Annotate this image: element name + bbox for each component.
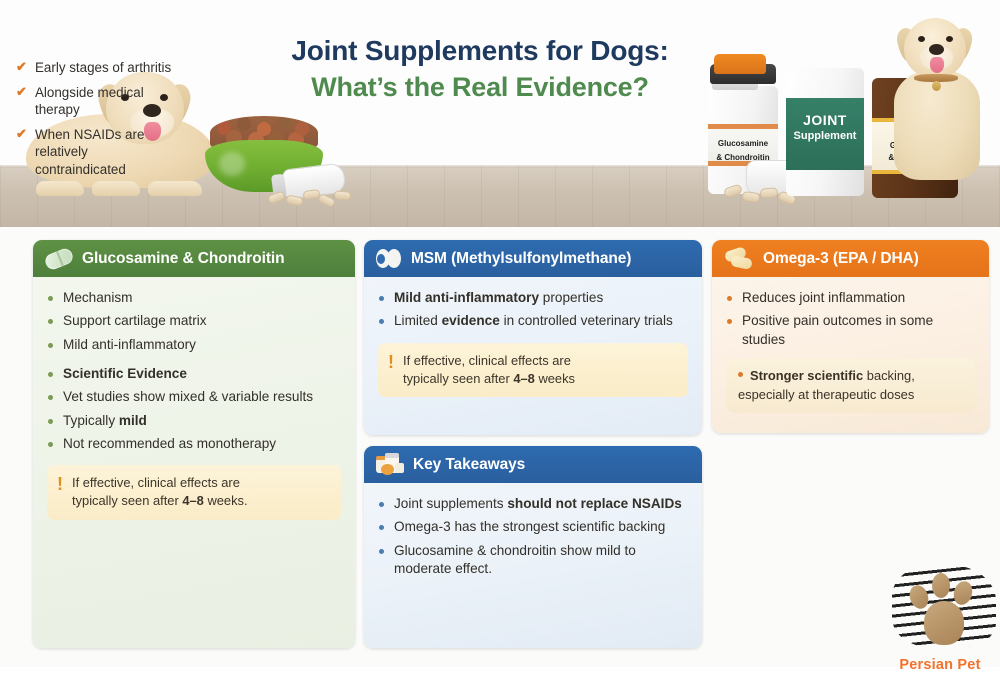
omega-3-bullet-list: Reduces joint inflammation Positive pain… — [726, 289, 975, 349]
card-body-glucosamine: Mechanism Support cartilage matrix Mild … — [33, 277, 355, 530]
exclamation-icon: ! — [388, 353, 394, 372]
bottle-label-line1: Glucosamine — [708, 139, 778, 149]
list-item-tail: properties — [539, 290, 603, 305]
callout-line-2-pre: typically seen after — [72, 493, 182, 508]
brand-logo — [892, 561, 996, 653]
pill-shape — [760, 187, 779, 199]
bottle-label-line2: Supplement — [786, 130, 864, 142]
brand-name: Persian Pet — [888, 657, 992, 673]
title-line-2: What’s the Real Evidence? — [245, 71, 715, 105]
list-item-pre: Joint supplements — [394, 496, 507, 511]
callout-line-1: If effective, clinical effects are — [72, 475, 240, 490]
list-item: Support cartilage matrix — [47, 312, 341, 330]
callout-line-2-pre: typically seen after — [403, 371, 513, 386]
bottle-label-band: JOINT Supplement — [786, 98, 864, 170]
msm-callout: ! If effective, clinical effects are typ… — [378, 343, 688, 397]
list-item-bold: Mild anti-inflammatory — [394, 290, 539, 305]
list-item: Vet studies show mixed & variable result… — [47, 388, 341, 406]
callout-line-2-bold: 4–8 — [182, 493, 204, 508]
card-msm: MSM (Methylsulfonylmethane) Mild anti-in… — [364, 240, 702, 435]
card-header-msm: MSM (Methylsulfonylmethane) — [364, 240, 702, 277]
supplement-bottle-2: JOINT Supplement — [786, 68, 864, 196]
capsule-icon — [43, 246, 75, 271]
title-line-1: Joint Supplements for Dogs: — [245, 34, 715, 68]
dog-tongue-shape — [930, 57, 944, 73]
dog-eye-shape — [946, 36, 953, 42]
card-header-label: Omega-3 (EPA / DHA) — [763, 250, 919, 268]
card-body-omega-3: Reduces joint inflammation Positive pain… — [712, 277, 989, 423]
pill-shape — [334, 190, 352, 200]
glucosamine-bullet-list: Mechanism Support cartilage matrix Mild … — [47, 289, 341, 453]
card-header-label: MSM (Methylsulfonylmethane) — [411, 250, 631, 268]
card-body-msm: Mild anti-inflammatory properties Limite… — [364, 277, 702, 407]
card-header-key-takeaways: Key Takeaways — [364, 446, 702, 483]
glucosamine-callout: ! If effective, clinical effects are typ… — [47, 465, 341, 519]
fish-oil-capsule-icon — [724, 249, 754, 269]
list-item-heading: Scientific Evidence — [47, 365, 341, 383]
omega-3-callout: Stronger scientific backing, especially … — [726, 358, 975, 413]
page-title: Joint Supplements for Dogs: What’s the R… — [245, 34, 715, 104]
list-item-bold: evidence — [442, 313, 500, 328]
list-item: Mild anti-inflammatory properties — [378, 289, 688, 307]
callout-line-2-bold: 4–8 — [513, 371, 535, 386]
list-item: Mild anti-inflammatory — [47, 336, 341, 354]
key-takeaways-list: Joint supplements should not replace NSA… — [378, 495, 688, 578]
list-item: Reduces joint inflammation — [726, 289, 975, 307]
callout-text: If effective, clinical effects are typic… — [72, 474, 248, 510]
callout-line-2-post: weeks — [535, 371, 575, 386]
list-item: Early stages of arthritis — [16, 59, 176, 76]
pill-shape — [741, 191, 760, 203]
list-item-tail: in controlled veterinary trials — [500, 313, 673, 328]
golden-retriever-photo — [880, 12, 998, 190]
paw-toe-pad — [932, 573, 950, 598]
exclamation-icon: ! — [57, 475, 63, 494]
list-item-bold: should not replace NSAIDs — [507, 496, 681, 511]
list-item: Typically mild — [47, 412, 341, 430]
supplement-jars-icon — [376, 454, 404, 476]
dog-paw-shape — [148, 181, 202, 196]
card-header-label: Glucosamine & Chondroitin — [82, 250, 284, 268]
list-item: Glucosamine & chondroitin show mild to m… — [378, 542, 688, 579]
card-header-label: Key Takeaways — [413, 456, 525, 474]
list-item: When NSAIDs are relatively contraindicat… — [16, 126, 176, 178]
list-item: Alongside medical therapy — [16, 84, 176, 119]
list-item: Joint supplements should not replace NSA… — [378, 495, 688, 513]
callout-line-2-post: weeks. — [204, 493, 248, 508]
dog-collar-tag — [932, 81, 941, 91]
card-omega-3: Omega-3 (EPA / DHA) Reduces joint inflam… — [712, 240, 989, 433]
bottle-label-line1: JOINT — [786, 112, 864, 128]
dog-paw-shape — [36, 181, 84, 196]
callout-text: If effective, clinical effects are typic… — [403, 352, 575, 388]
card-header-omega-3: Omega-3 (EPA / DHA) — [712, 240, 989, 277]
card-key-takeaways: Key Takeaways Joint supplements should n… — [364, 446, 702, 648]
bullet-dot-icon — [738, 372, 743, 377]
msm-bullet-list: Mild anti-inflammatory properties Limite… — [378, 289, 688, 331]
card-body-key-takeaways: Joint supplements should not replace NSA… — [364, 483, 702, 593]
card-header-glucosamine: Glucosamine & Chondroitin — [33, 240, 355, 277]
list-item: Not recommended as monotherapy — [47, 435, 341, 453]
infographic-page: Joint Supplements for Dogs: What’s the R… — [0, 0, 1000, 667]
dog-nose-shape — [929, 44, 944, 55]
list-item-pre: Limited — [394, 313, 442, 328]
card-glucosamine-chondroitin: Glucosamine & Chondroitin Mechanism Supp… — [33, 240, 355, 648]
dog-paw-shape — [92, 181, 140, 196]
list-item: Positive pain outcomes in some studies — [726, 312, 975, 349]
paw-main-pad — [924, 601, 964, 645]
bottle-cap — [714, 54, 766, 74]
callout-line-1: If effective, clinical effects are — [403, 353, 571, 368]
list-item: Mechanism — [47, 289, 341, 307]
bone-scoop-icon — [376, 249, 402, 269]
callout-bold-lead: Stronger scientific — [750, 368, 863, 383]
list-item: Limited evidence in controlled veterinar… — [378, 312, 688, 330]
list-item: Omega-3 has the strongest scientific bac… — [378, 518, 688, 536]
dog-eye-shape — [918, 36, 925, 42]
